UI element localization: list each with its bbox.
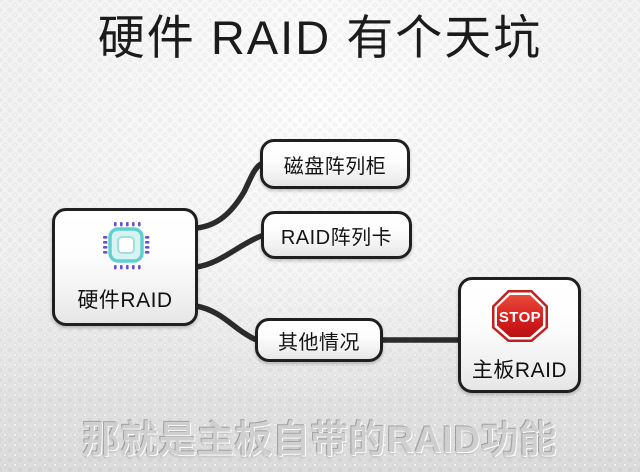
slide-title: 硬件 RAID 有个天坑 — [0, 6, 640, 70]
node-hardware-raid-label: 硬件RAID — [77, 284, 172, 314]
connector-root-to-card — [196, 236, 261, 267]
node-other-cases-label: 其他情况 — [278, 326, 360, 355]
slide-caption: 那就是主板自带的RAID功能 — [0, 414, 640, 466]
node-raid-card[interactable]: RAID阵列卡 — [261, 211, 412, 259]
connector-root-to-other — [196, 306, 257, 340]
svg-text:STOP: STOP — [498, 309, 540, 326]
node-motherboard-raid-label: 主板RAID — [472, 354, 567, 384]
stop-sign-icon: STOP — [489, 287, 551, 345]
slide-canvas: 硬件 RAID 有个天坑 — [0, 0, 640, 472]
node-raid-card-label: RAID阵列卡 — [281, 221, 392, 250]
node-motherboard-raid[interactable]: STOP 主板RAID — [458, 277, 581, 393]
node-disk-array-shelf[interactable]: 磁盘阵列柜 — [260, 139, 410, 189]
node-other-cases[interactable]: 其他情况 — [255, 318, 383, 362]
cpu-chip-icon — [97, 220, 153, 272]
node-hardware-raid[interactable]: 硬件RAID — [52, 208, 198, 326]
node-disk-array-shelf-label: 磁盘阵列柜 — [284, 150, 387, 179]
connector-root-to-shelf — [196, 164, 261, 228]
